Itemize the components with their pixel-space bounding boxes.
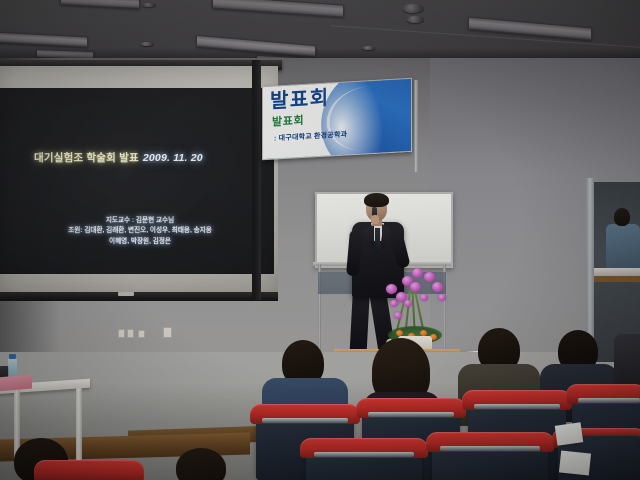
presenter-hair [364, 193, 389, 207]
sprinkler-head-icon [406, 16, 424, 23]
ceiling-light-fixture [60, 0, 140, 9]
ceiling-vent-icon [362, 46, 375, 50]
ceiling [0, 0, 640, 62]
banner-headline: 발표회 [270, 88, 330, 111]
slide-body-text: 지도교수 : 김문현 교수님 조원: 김대환, 김래환, 변진오, 이성우, 최… [22, 216, 258, 247]
banner-support-pole [414, 80, 418, 172]
auditorium-seat-cushion[interactable] [34, 460, 144, 480]
presenter-necktie [375, 228, 380, 254]
orchid-bloom [390, 300, 398, 307]
auditorium-seat-bar [368, 412, 454, 417]
alcove-person-head [614, 208, 630, 226]
handout-paper [559, 450, 591, 475]
water-bottle-cap [9, 354, 16, 359]
event-banner: 발표회 발표회 : 대구대학교 환경공학과 [262, 78, 412, 160]
lecture-hall-photo: 대기실험조 학술회 발표2009. 11. 20 지도교수 : 김문현 교수님 … [0, 0, 640, 480]
wall-outlet-icon [118, 329, 125, 338]
orchid-bloom [438, 294, 446, 301]
auditorium-seat-bar [578, 398, 640, 403]
sprinkler-head-icon [402, 4, 424, 13]
orchid-bloom [394, 312, 402, 319]
ceiling-vent-icon [140, 42, 154, 46]
wall-outlet-icon [127, 329, 134, 338]
orchid-bloom [420, 294, 428, 301]
orchid-bloom [410, 282, 421, 292]
slide-members-line-1: 조원: 김대환, 김래환, 변진오, 이성우, 최태웅, 송지웅 [22, 226, 258, 236]
projection-screen-bottom-bar [0, 292, 278, 301]
wall-outlet-icon [163, 327, 172, 338]
ceiling-light-fixture [196, 35, 316, 57]
ceiling-light-fixture [212, 0, 344, 18]
ceiling-vent-icon [142, 3, 156, 7]
projection-screen-pull-tab[interactable] [118, 292, 134, 296]
orchid-bloom [412, 268, 423, 278]
handout-paper [555, 422, 584, 445]
orchid-bloom [386, 284, 397, 294]
projection-screen [0, 66, 278, 298]
wall-outlet-icon [138, 330, 145, 338]
auditorium-seat-bar [262, 418, 348, 423]
side-table-leg [76, 388, 82, 464]
slide-title-text: 대기실험조 학술회 발표 [34, 152, 139, 164]
auditorium-seat-bar [474, 404, 560, 409]
audience-member-7-head [176, 448, 226, 480]
auditorium-seat-bar [314, 452, 414, 457]
banner-swoosh-graphic [316, 78, 412, 160]
ceiling-light-fixture [0, 32, 88, 48]
auditorium-seat-bar [440, 446, 540, 451]
alcove-person-body [606, 224, 640, 272]
presenter-hand [371, 215, 379, 224]
orchid-bloom [404, 300, 412, 307]
orchid-bloom [432, 282, 443, 292]
door-frame-left [252, 60, 261, 300]
slide-members-line-2: 이혜영, 박장원, 김정은 [22, 237, 258, 247]
slide-title-date: 2009. 11. 20 [143, 152, 203, 164]
slide-title: 대기실험조 학술회 발표2009. 11. 20 [34, 150, 244, 165]
slide-advisor-line: 지도교수 : 김문현 교수님 [22, 216, 258, 226]
orchid-bloom [424, 272, 435, 282]
banner-subline: 발표회 [272, 116, 304, 129]
alcove-counter-base [594, 276, 640, 282]
